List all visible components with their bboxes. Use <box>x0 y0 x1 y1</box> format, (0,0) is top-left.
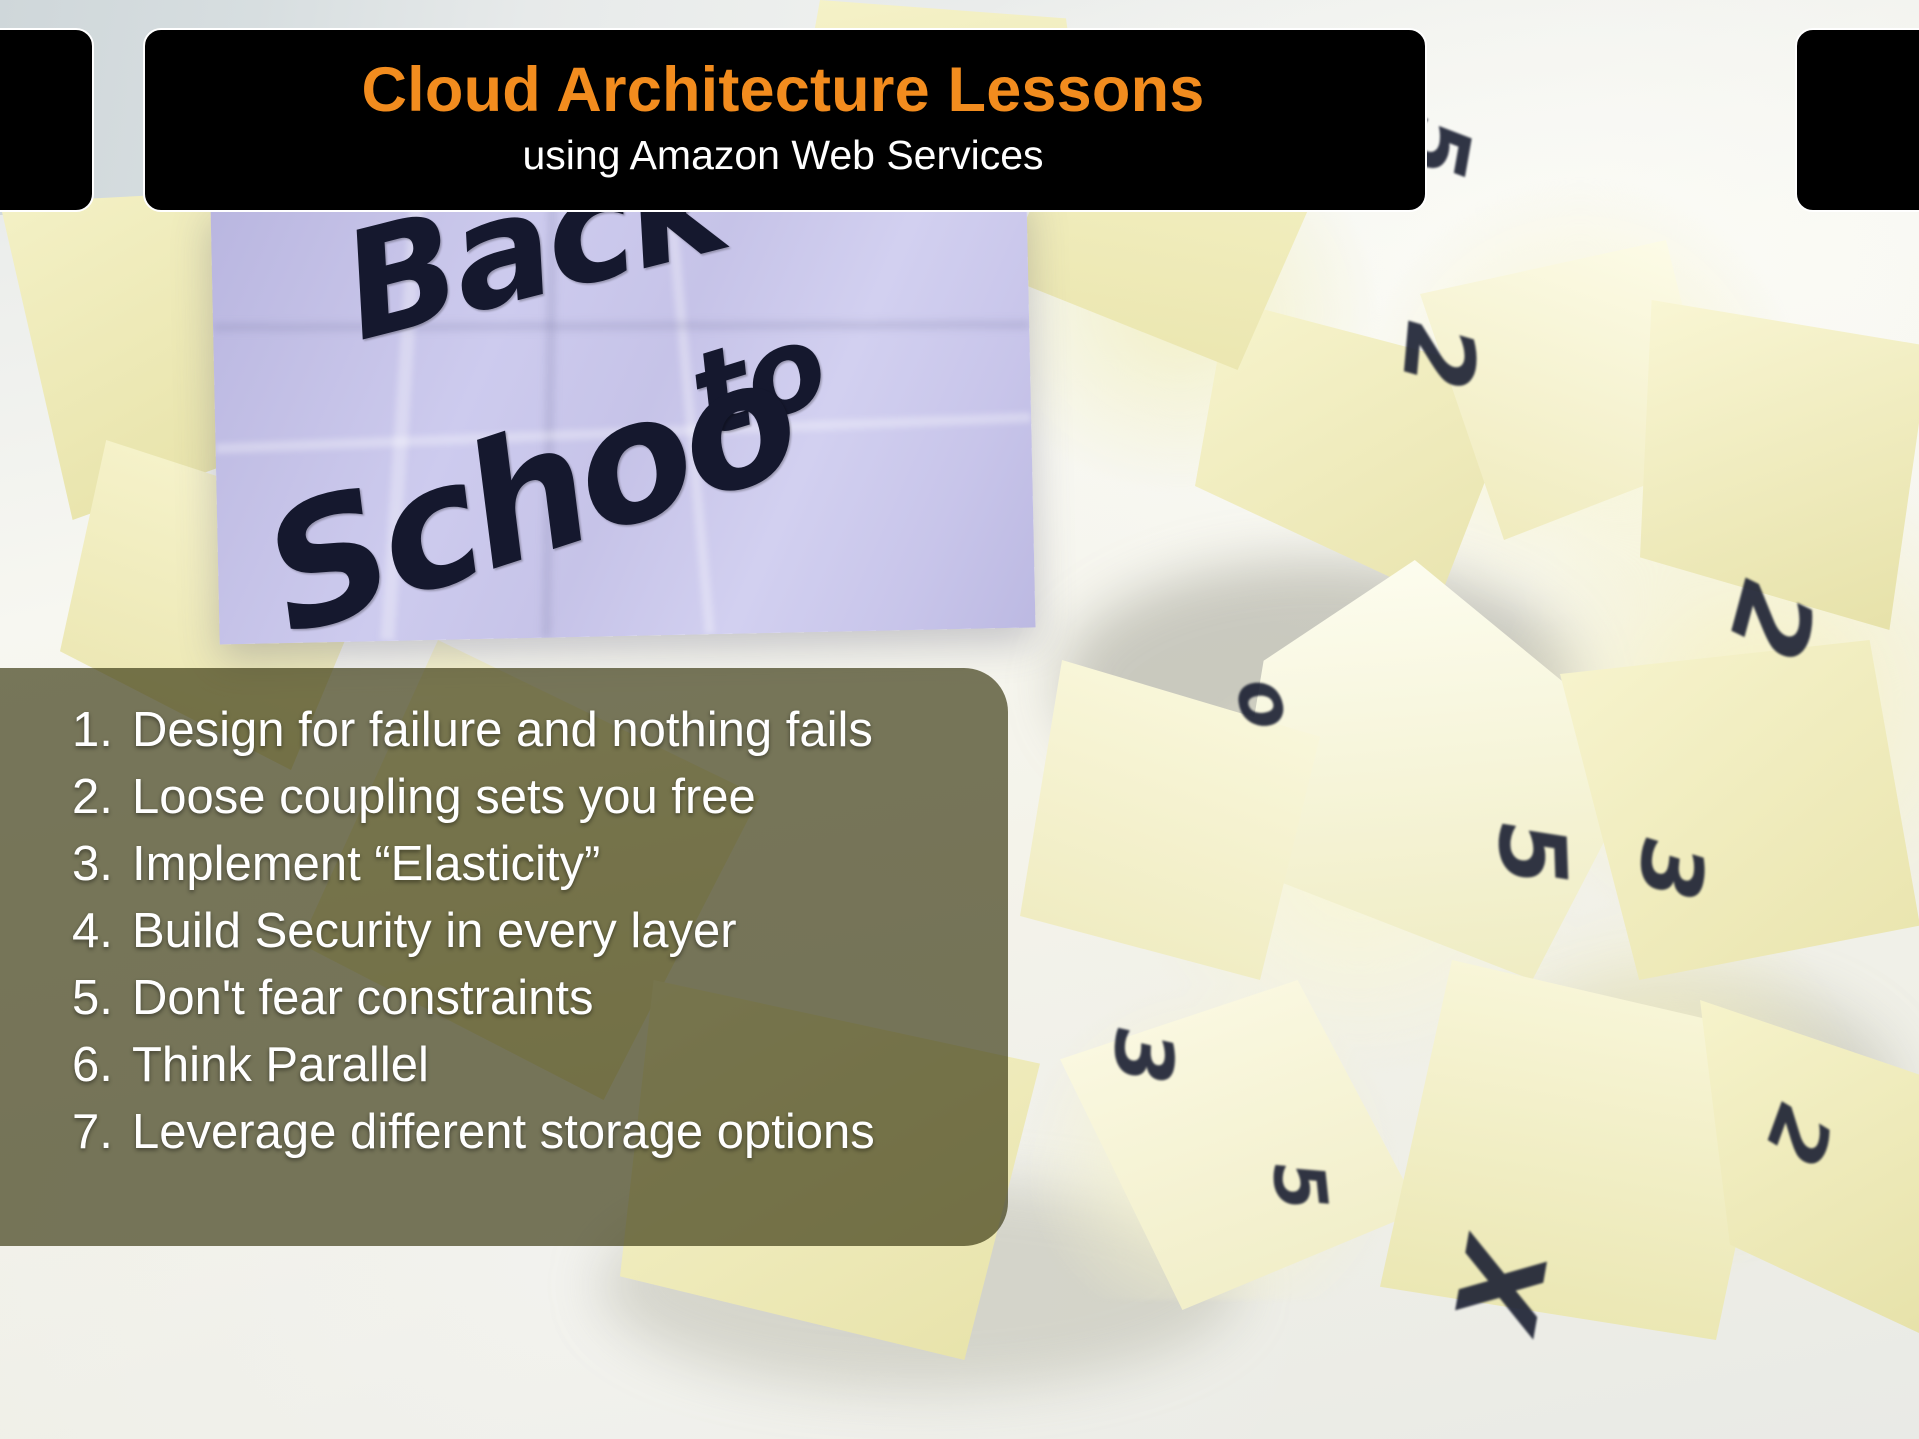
scribble-fragment: 3 <box>1095 1027 1190 1086</box>
list-item-number: 2. <box>72 773 132 822</box>
scribble-fragment: 5 <box>1477 820 1586 888</box>
list-item-number: 5. <box>72 974 132 1023</box>
list-item-label: Loose coupling sets you free <box>132 770 756 824</box>
list-item: 6.Think Parallel <box>72 1041 1010 1090</box>
list-item-label: Don't fear constraints <box>132 971 593 1025</box>
title-block: Cloud Architecture Lessons using Amazon … <box>143 28 1423 208</box>
sticky-note-text-line-3: Schoo <box>242 318 817 644</box>
list-item-label: Design for failure and nothing fails <box>132 703 873 757</box>
list-item: 5.Don't fear constraints <box>72 974 1010 1023</box>
list-item-label: Think Parallel <box>132 1038 429 1092</box>
list-item: 1.Design for failure and nothing fails <box>72 706 1010 755</box>
list-item: 7.Leverage different storage options <box>72 1108 1010 1157</box>
list-item-number: 4. <box>72 907 132 956</box>
list-item-label: Build Security in every layer <box>132 904 737 958</box>
scribble-fragment: 5 <box>1256 1157 1343 1214</box>
list-item-number: 7. <box>72 1108 132 1157</box>
list-item: 4.Build Security in every layer <box>72 907 1010 956</box>
sticky-note: Back to Schoo <box>210 188 1035 645</box>
list-item-number: 1. <box>72 706 132 755</box>
page-title: Cloud Architecture Lessons <box>361 58 1204 124</box>
page-subtitle: using Amazon Web Services <box>522 133 1043 178</box>
banner-segment-right <box>1795 28 1919 212</box>
lessons-list: 1.Design for failure and nothing fails2.… <box>0 668 1010 1246</box>
banner-segment-left <box>0 28 94 212</box>
list-item-number: 3. <box>72 840 132 889</box>
sticky-crease <box>213 321 1029 332</box>
slide: 2 2 5 3 o X 3 5 5 2 Back to Schoo Cloud … <box>0 0 1919 1439</box>
list-item: 3.Implement “Elasticity” <box>72 840 1010 889</box>
list-item-number: 6. <box>72 1041 132 1090</box>
list-item: 2.Loose coupling sets you free <box>72 773 1010 822</box>
scribble-fragment: 2 <box>1380 318 1497 394</box>
scribble-fragment: 3 <box>1617 835 1723 905</box>
list-item-label: Leverage different storage options <box>132 1105 875 1159</box>
list-item-label: Implement “Elasticity” <box>132 837 600 891</box>
